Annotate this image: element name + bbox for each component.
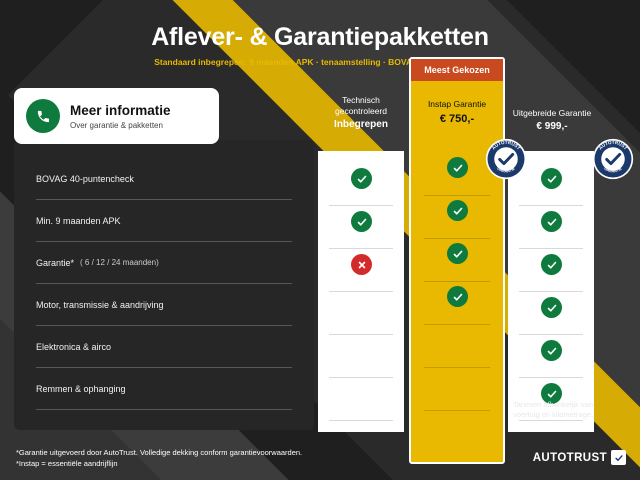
divider	[329, 334, 393, 335]
check-icon	[541, 211, 562, 232]
footnote-line-2: *Instap = essentiële aandrijflijn	[16, 458, 436, 469]
more-info-subtitle: Over garantie & pakketten	[70, 121, 171, 130]
feature-label: Min. 9 maanden APK	[36, 216, 121, 226]
package-card-instap[interactable]: Meest Gekozen Instap Garantie € 750,-	[409, 57, 505, 464]
list-item: Motor, transmissie & aandrijving	[36, 284, 292, 326]
divider	[329, 291, 393, 292]
column-title-line1: Technisch	[342, 95, 380, 105]
footnote: *Garantie uitgevoerd door AutoTrust. Vol…	[16, 447, 436, 469]
check-icon	[447, 157, 468, 178]
feature-note: ( 6 / 12 / 24 maanden)	[80, 258, 159, 267]
feature-label: Garantie*	[36, 258, 74, 268]
list-item: Min. 9 maanden APK	[36, 200, 292, 242]
header: Aflever- & Garantiepakketten Standaard i…	[0, 0, 640, 78]
divider	[424, 410, 490, 411]
feature-label: Elektronica & airco	[36, 342, 111, 352]
autotrust-seal-icon: AUTOTRUST GARANTIE	[592, 138, 634, 180]
check-icon	[447, 243, 468, 264]
footnote-line-1: *Garantie uitgevoerd door AutoTrust. Vol…	[16, 447, 436, 458]
package-card-uitgebreid[interactable]	[508, 151, 594, 432]
divider	[329, 205, 393, 206]
check-icon	[541, 340, 562, 361]
column-header-instap: Instap Garantie € 750,-	[411, 99, 503, 125]
check-icon	[541, 168, 562, 189]
divider	[519, 248, 583, 249]
column-title-line2: gecontroleerd	[335, 106, 387, 116]
list-item: Garantie* ( 6 / 12 / 24 maanden)	[36, 242, 292, 284]
more-info-card[interactable]: Meer informatie Over garantie & pakkette…	[14, 88, 219, 144]
divider	[519, 334, 583, 335]
check-icon	[351, 168, 372, 189]
badge-meest-gekozen: Meest Gekozen	[411, 59, 503, 81]
page-title: Aflever- & Garantiepakketten	[0, 23, 640, 52]
divider	[424, 281, 490, 282]
column-price: € 999,-	[506, 121, 598, 132]
package-card-body	[420, 143, 494, 443]
list-item: Elektronica & airco	[36, 326, 292, 368]
brand-logo: AUTOTRUST	[533, 450, 626, 465]
divider	[519, 205, 583, 206]
divider	[519, 291, 583, 292]
feature-label: BOVAG 40-puntencheck	[36, 174, 134, 184]
check-icon	[351, 211, 372, 232]
page-subtitle: Standaard inbegrepen: 9 maanden APK · te…	[0, 57, 640, 67]
divider	[424, 367, 490, 368]
divider	[329, 420, 393, 421]
list-item: Remmen & ophanging	[36, 368, 292, 410]
feature-label: Motor, transmissie & aandrijving	[36, 300, 164, 310]
divider	[329, 377, 393, 378]
divider	[329, 248, 393, 249]
tarieven-note: Tarieven afhankelijk van voertuig en kil…	[508, 400, 598, 420]
check-badge-icon	[611, 450, 626, 465]
column-price: Inbegrepen	[318, 119, 404, 130]
more-info-title: Meer informatie	[70, 103, 171, 118]
list-item: BOVAG 40-puntencheck	[36, 158, 292, 200]
divider	[424, 195, 490, 196]
brand-logo-text: AUTOTRUST	[533, 452, 607, 464]
package-card-technisch[interactable]	[318, 151, 404, 432]
column-header-uitgebreid: Uitgebreide Garantie € 999,-	[506, 108, 598, 132]
column-title-line1: Uitgebreide Garantie	[506, 108, 598, 119]
column-header-technisch: Technisch gecontroleerd Inbegrepen	[318, 95, 404, 130]
column-price: € 750,-	[411, 113, 503, 125]
check-icon	[447, 200, 468, 221]
check-icon	[447, 286, 468, 307]
divider	[519, 377, 583, 378]
feature-label: Remmen & ophanging	[36, 384, 126, 394]
promo-page: Aflever- & Garantiepakketten Standaard i…	[0, 0, 640, 480]
check-icon	[541, 254, 562, 275]
column-title-line1: Instap Garantie	[411, 99, 503, 109]
divider	[424, 238, 490, 239]
feature-list: BOVAG 40-puntencheck Min. 9 maanden APK …	[14, 140, 314, 430]
divider	[424, 324, 490, 325]
autotrust-seal-icon: AUTOTRUST GARANTIE	[485, 138, 527, 180]
phone-icon	[26, 99, 60, 133]
cross-icon	[351, 254, 372, 275]
divider	[519, 420, 583, 421]
check-icon	[541, 297, 562, 318]
